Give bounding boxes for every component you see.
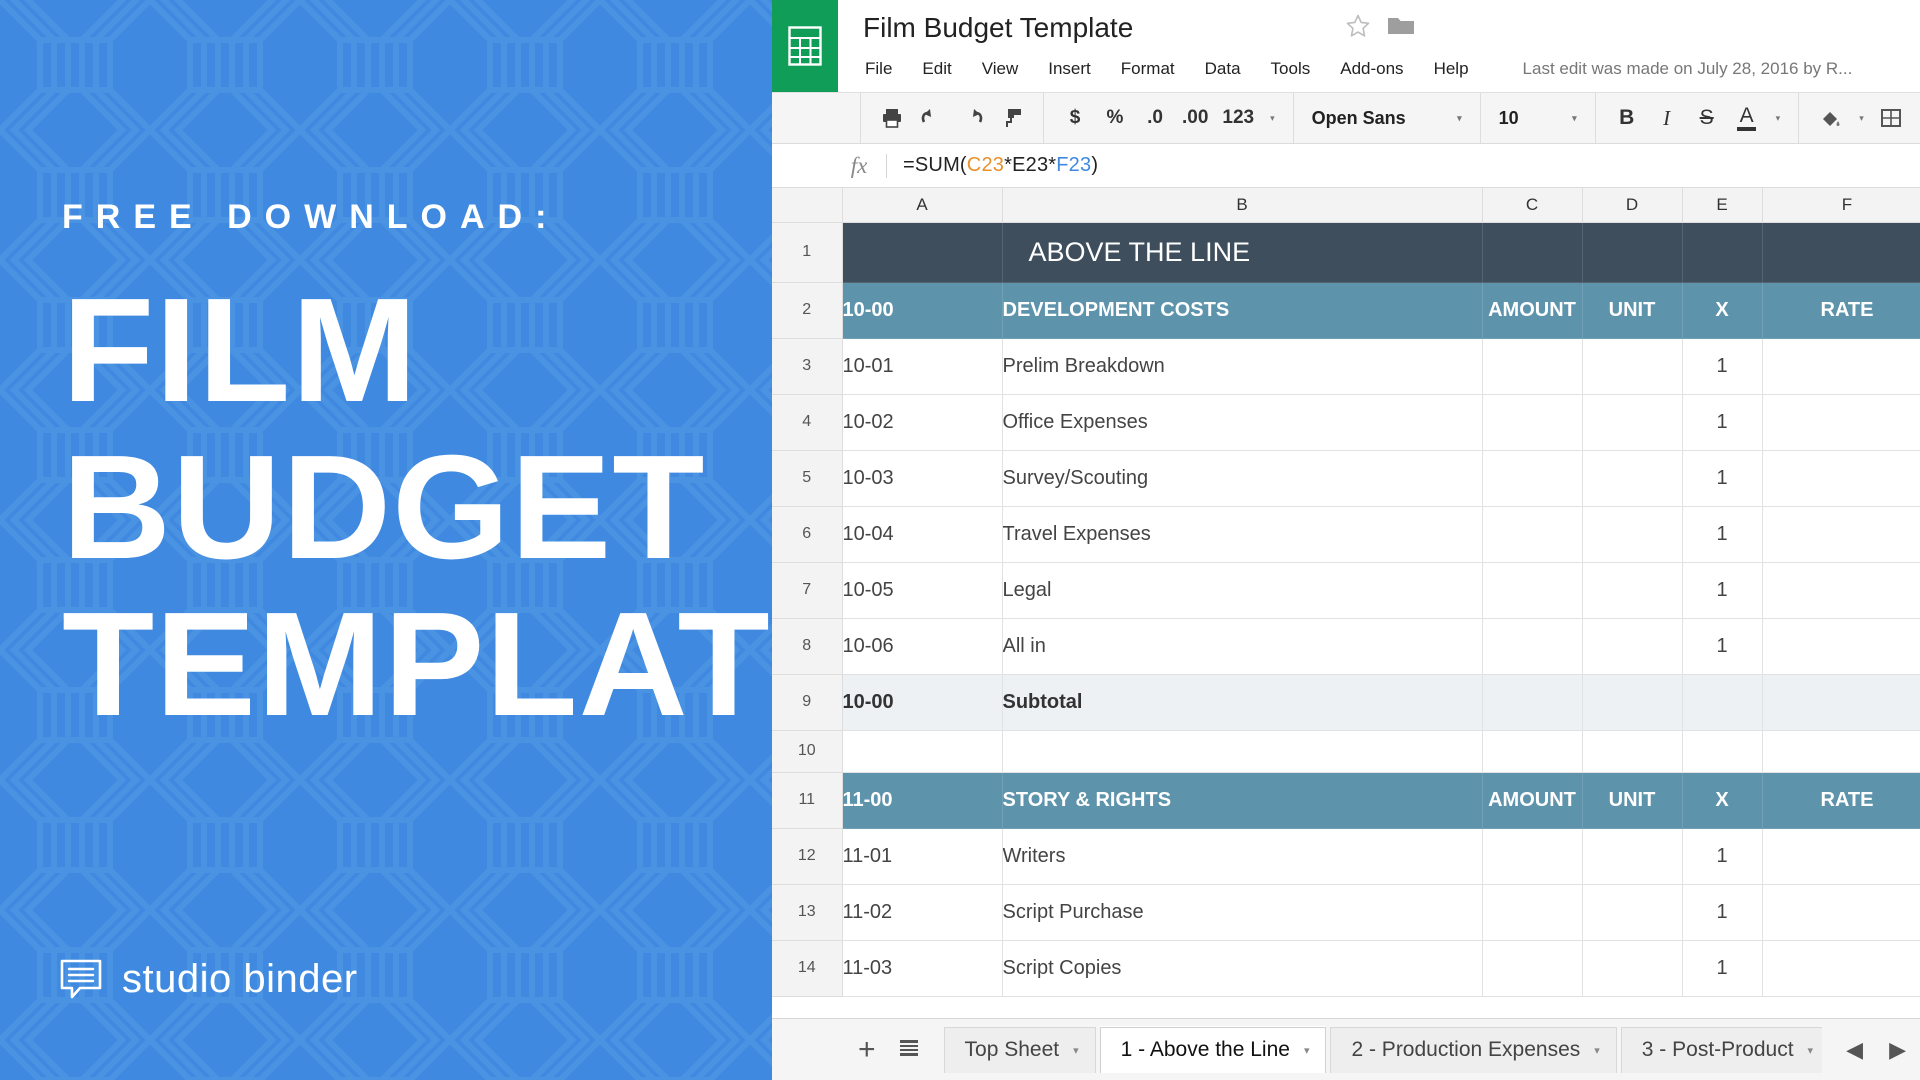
grid-cell[interactable] — [1762, 884, 1920, 940]
grid-cell[interactable]: 10-05 — [842, 562, 1002, 618]
grid-cell[interactable] — [1682, 222, 1762, 282]
formula-bar[interactable]: fx =SUM(C23*E23*F23) — [772, 144, 1920, 188]
studiobinder-wordmark: studio binder — [122, 957, 358, 1002]
grid-cell[interactable] — [1762, 674, 1920, 730]
menu-item-insert[interactable]: Insert — [1046, 56, 1093, 82]
menu-bar: File Edit View Insert Format Data Tools … — [863, 52, 1920, 86]
grid-cell[interactable]: STORY & RIGHTS — [1002, 772, 1482, 828]
toolbar-group-text-style: B I S A ▾ — [1596, 93, 1800, 143]
grid-cell[interactable]: 1 — [1682, 940, 1762, 996]
screenshot-root: FREE DOWNLOAD: FILM BUDGET TEMPLATE stud… — [0, 0, 1920, 1080]
grid-cell[interactable] — [1762, 828, 1920, 884]
borders-icon[interactable] — [1878, 101, 1904, 135]
row-header[interactable]: 3 — [772, 338, 842, 394]
select-all-corner[interactable] — [772, 188, 842, 222]
increase-decimal-button[interactable]: .00 — [1182, 101, 1208, 135]
more-formats-button[interactable]: 123 — [1222, 101, 1254, 135]
row-header[interactable]: 6 — [772, 506, 842, 562]
formula-part-suffix: ) — [1091, 154, 1098, 176]
grid-cell[interactable] — [842, 222, 1002, 282]
grid-cell[interactable] — [1582, 618, 1682, 674]
speech-bubble-icon — [58, 956, 104, 1002]
menu-item-view[interactable]: View — [980, 56, 1021, 82]
font-family-select[interactable]: Open Sans ▾ — [1312, 108, 1462, 129]
grid-cell[interactable] — [1682, 730, 1762, 772]
grid-row: 610-04Travel Expenses1 — [772, 506, 1920, 562]
grid-cell[interactable]: AMOUNT — [1482, 282, 1582, 338]
strikethrough-button[interactable]: S — [1694, 101, 1720, 135]
font-size-select[interactable]: 10 ▾ — [1499, 108, 1577, 129]
document-title[interactable]: Film Budget Template — [863, 12, 1133, 44]
grid-row: 210-00DEVELOPMENT COSTSAMOUNTUNITXRATE — [772, 282, 1920, 338]
row-header[interactable]: 1 — [772, 222, 842, 282]
grid-cell[interactable]: AMOUNT — [1482, 772, 1582, 828]
grid-cell[interactable]: 1 — [1682, 884, 1762, 940]
grid-cell[interactable]: 1 — [1682, 828, 1762, 884]
grid-cell[interactable]: 1 — [1682, 338, 1762, 394]
grid-row: 410-02Office Expenses1 — [772, 394, 1920, 450]
grid-cell[interactable] — [1482, 222, 1582, 282]
grid-cell[interactable]: Office Expenses — [1002, 394, 1482, 450]
grid-cell[interactable] — [1582, 730, 1682, 772]
grid-cell[interactable] — [1482, 730, 1582, 772]
grid-cell[interactable]: 11-00 — [842, 772, 1002, 828]
italic-button[interactable]: I — [1654, 101, 1680, 135]
grid-row: 10 — [772, 730, 1920, 772]
grid-cell[interactable] — [1582, 338, 1682, 394]
row-header[interactable]: 12 — [772, 828, 842, 884]
toolbar-group-font-size: 10 ▾ — [1481, 93, 1596, 143]
sheet-tab-navigation: ◀ ▶ — [1822, 1019, 1906, 1080]
grid-cell[interactable] — [1762, 618, 1920, 674]
chevron-down-icon[interactable]: ▾ — [1808, 1044, 1814, 1057]
fill-color-icon[interactable] — [1817, 101, 1843, 135]
sheet-tabs: Top Sheet▾1 - Above the Line▾2 - Product… — [944, 1027, 1835, 1073]
grid-cell[interactable] — [1762, 562, 1920, 618]
sheet-tab[interactable]: 2 - Production Expenses▾ — [1330, 1027, 1616, 1073]
grid-cell[interactable] — [1762, 394, 1920, 450]
all-sheets-icon[interactable] — [892, 1038, 936, 1062]
formula-input[interactable]: =SUM(C23*E23*F23) — [903, 154, 1098, 177]
sheet-tab-bar: + Top Sheet▾1 - Above the Line▾2 - Produ… — [772, 1018, 1920, 1080]
menu-item-addons[interactable]: Add-ons — [1338, 56, 1405, 82]
text-color-swatch — [1737, 127, 1756, 131]
undo-icon[interactable] — [919, 101, 945, 135]
decrease-decimal-button[interactable]: .0 — [1142, 101, 1168, 135]
grid-cell[interactable]: 11-01 — [842, 828, 1002, 884]
text-color-button[interactable]: A — [1734, 101, 1760, 135]
grid-cell[interactable] — [1482, 674, 1582, 730]
percent-format-button[interactable]: % — [1102, 101, 1128, 135]
grid-cell[interactable] — [1762, 730, 1920, 772]
google-sheets-window: Film Budget Template File Edit — [772, 0, 1920, 1080]
menu-item-data[interactable]: Data — [1203, 56, 1243, 82]
chevron-down-icon[interactable]: ▾ — [1304, 1044, 1310, 1057]
grid-cell[interactable]: UNIT — [1582, 772, 1682, 828]
grid-cell[interactable]: 10-02 — [842, 394, 1002, 450]
sheet-tab-label: 2 - Production Expenses — [1351, 1038, 1580, 1062]
grid-row: 710-05Legal1 — [772, 562, 1920, 618]
grid-cell[interactable] — [1482, 394, 1582, 450]
grid-cell[interactable] — [1582, 450, 1682, 506]
formula-part-prefix: =SUM( — [903, 154, 967, 176]
print-icon[interactable] — [879, 101, 905, 135]
grid-cell[interactable]: X — [1682, 772, 1762, 828]
menu-item-edit[interactable]: Edit — [920, 56, 953, 82]
chevron-down-icon[interactable]: ▾ — [1594, 1044, 1600, 1057]
sheet-tab[interactable]: 1 - Above the Line▾ — [1100, 1027, 1327, 1073]
last-edit-status: Last edit was made on July 28, 2016 by R… — [1523, 59, 1853, 79]
next-sheet-arrow[interactable]: ▶ — [1889, 1037, 1906, 1063]
grid-cell[interactable] — [1482, 884, 1582, 940]
grid-cell[interactable]: Travel Expenses — [1002, 506, 1482, 562]
column-header-b[interactable]: B — [1002, 188, 1482, 222]
grid-cell[interactable] — [1762, 222, 1920, 282]
grid-cell[interactable] — [1482, 506, 1582, 562]
text-color-letter: A — [1740, 105, 1754, 126]
toolbar: $ % .0 .00 123 ▾ Open Sans ▾ 10 ▾ — [772, 92, 1920, 144]
column-header-c[interactable]: C — [1482, 188, 1582, 222]
currency-format-button[interactable]: $ — [1062, 101, 1088, 135]
grid-row: 510-03Survey/Scouting1 — [772, 450, 1920, 506]
grid-row: 1ABOVE THE LINE — [772, 222, 1920, 282]
grid-cell[interactable]: Survey/Scouting — [1002, 450, 1482, 506]
toolbar-group-number-format: $ % .0 .00 123 ▾ — [1044, 93, 1294, 143]
grid-cell[interactable]: 1 — [1682, 618, 1762, 674]
grid-cell[interactable]: 1 — [1682, 394, 1762, 450]
row-header[interactable]: 14 — [772, 940, 842, 996]
grid-body: 1ABOVE THE LINE210-00DEVELOPMENT COSTSAM… — [772, 222, 1920, 996]
grid-cell[interactable]: 10-01 — [842, 338, 1002, 394]
bold-button[interactable]: B — [1614, 101, 1640, 135]
grid-cell[interactable] — [842, 730, 1002, 772]
menu-item-help[interactable]: Help — [1432, 56, 1471, 82]
column-header-e[interactable]: E — [1682, 188, 1762, 222]
fx-icon: fx — [832, 153, 886, 179]
promo-eyebrow: FREE DOWNLOAD: — [62, 200, 772, 234]
grid-cell[interactable] — [1482, 450, 1582, 506]
grid-cell[interactable] — [1582, 394, 1682, 450]
grid-cell[interactable]: 1 — [1682, 506, 1762, 562]
toolbar-group-actions — [860, 93, 1044, 143]
chevron-down-icon[interactable]: ▾ — [1776, 113, 1781, 124]
row-header[interactable]: 7 — [772, 562, 842, 618]
grid-row: 1411-03Script Copies1 — [772, 940, 1920, 996]
add-sheet-button[interactable]: + — [842, 1035, 892, 1065]
grid-cell[interactable]: 10-00 — [842, 674, 1002, 730]
chevron-down-icon[interactable]: ▾ — [1270, 113, 1275, 124]
grid-cell[interactable] — [1482, 940, 1582, 996]
grid-row: 1211-01Writers1 — [772, 828, 1920, 884]
grid-cell[interactable]: 1 — [1682, 562, 1762, 618]
promo-headline-line-2: BUDGET — [62, 435, 772, 580]
grid-cell[interactable]: 11-02 — [842, 884, 1002, 940]
spreadsheet-grid[interactable]: A B C D E F 1ABOVE THE LINE210-00DEVELOP… — [772, 188, 1920, 1018]
grid-table: A B C D E F 1ABOVE THE LINE210-00DEVELOP… — [772, 188, 1920, 997]
grid-cell[interactable]: UNIT — [1582, 282, 1682, 338]
column-header-row: A B C D E F — [772, 188, 1920, 222]
redo-icon[interactable] — [959, 101, 985, 135]
row-header[interactable]: 11 — [772, 772, 842, 828]
grid-cell[interactable]: RATE — [1762, 282, 1920, 338]
column-header-a[interactable]: A — [842, 188, 1002, 222]
grid-row: 1111-00STORY & RIGHTSAMOUNTUNITXRATE — [772, 772, 1920, 828]
grid-cell[interactable]: All in — [1002, 618, 1482, 674]
grid-cell[interactable]: Script Copies — [1002, 940, 1482, 996]
grid-cell[interactable] — [1582, 884, 1682, 940]
menu-item-file[interactable]: File — [863, 56, 894, 82]
menu-item-tools[interactable]: Tools — [1269, 56, 1313, 82]
grid-row: 910-00Subtotal — [772, 674, 1920, 730]
grid-cell[interactable]: 10-00 — [842, 282, 1002, 338]
grid-cell[interactable]: Legal — [1002, 562, 1482, 618]
grid-cell[interactable] — [1582, 940, 1682, 996]
grid-cell[interactable]: 1 — [1682, 450, 1762, 506]
grid-cell[interactable] — [1682, 674, 1762, 730]
grid-cell[interactable]: 11-03 — [842, 940, 1002, 996]
promo-panel: FREE DOWNLOAD: FILM BUDGET TEMPLATE stud… — [0, 0, 772, 1080]
chevron-down-icon[interactable]: ▾ — [1572, 113, 1577, 124]
formula-ref-c23: C23 — [967, 154, 1004, 176]
star-outline-icon[interactable] — [1345, 13, 1371, 44]
grid-cell[interactable]: Writers — [1002, 828, 1482, 884]
row-header[interactable]: 4 — [772, 394, 842, 450]
grid-cell[interactable]: 10-03 — [842, 450, 1002, 506]
grid-cell[interactable] — [1482, 562, 1582, 618]
column-header-f[interactable]: F — [1762, 188, 1920, 222]
grid-row: 310-01Prelim Breakdown1 — [772, 338, 1920, 394]
grid-cell[interactable] — [1582, 828, 1682, 884]
row-header[interactable]: 10 — [772, 730, 842, 772]
row-header[interactable]: 8 — [772, 618, 842, 674]
grid-cell[interactable] — [1762, 506, 1920, 562]
grid-cell[interactable]: Subtotal — [1002, 674, 1482, 730]
grid-cell[interactable]: RATE — [1762, 772, 1920, 828]
studiobinder-logo: studio binder — [58, 956, 358, 1002]
grid-row: 1311-02Script Purchase1 — [772, 884, 1920, 940]
sheet-tab[interactable]: 3 - Post-Product▾ — [1621, 1027, 1830, 1073]
google-sheets-icon[interactable] — [772, 0, 838, 92]
folder-icon[interactable] — [1387, 14, 1415, 43]
grid-cell[interactable] — [1762, 338, 1920, 394]
font-family-value: Open Sans — [1312, 108, 1406, 129]
grid-cell[interactable] — [1582, 506, 1682, 562]
sheet-tab[interactable]: Top Sheet▾ — [944, 1027, 1096, 1073]
grid-cell[interactable] — [1582, 674, 1682, 730]
grid-cell[interactable] — [1762, 450, 1920, 506]
column-header-d[interactable]: D — [1582, 188, 1682, 222]
grid-cell[interactable]: Script Purchase — [1002, 884, 1482, 940]
chevron-down-icon[interactable]: ▾ — [1859, 113, 1864, 124]
prev-sheet-arrow[interactable]: ◀ — [1846, 1037, 1863, 1063]
grid-cell[interactable]: DEVELOPMENT COSTS — [1002, 282, 1482, 338]
grid-cell[interactable] — [1482, 338, 1582, 394]
formula-part-middle: *E23* — [1004, 154, 1056, 176]
sheet-tab-label: 3 - Post-Product — [1642, 1038, 1794, 1062]
sheets-header: Film Budget Template File Edit — [772, 0, 1920, 92]
row-header[interactable]: 2 — [772, 282, 842, 338]
chevron-down-icon[interactable]: ▾ — [1457, 113, 1462, 124]
font-size-value: 10 — [1499, 108, 1519, 129]
row-header[interactable]: 13 — [772, 884, 842, 940]
grid-cell[interactable] — [1582, 222, 1682, 282]
grid-cell[interactable]: 10-06 — [842, 618, 1002, 674]
row-header[interactable]: 5 — [772, 450, 842, 506]
formula-ref-f23: F23 — [1056, 154, 1091, 176]
toolbar-group-font: Open Sans ▾ — [1294, 93, 1481, 143]
formula-bar-divider — [886, 154, 887, 178]
grid-cell[interactable]: 10-04 — [842, 506, 1002, 562]
grid-cell[interactable] — [1002, 730, 1482, 772]
sheet-tab-label: Top Sheet — [965, 1038, 1060, 1062]
paint-format-icon[interactable] — [999, 101, 1025, 135]
promo-headline-line-3: TEMPLATE — [62, 592, 772, 737]
grid-cell[interactable] — [1582, 562, 1682, 618]
promo-headline-line-1: FILM — [62, 278, 772, 423]
grid-cell[interactable] — [1482, 618, 1582, 674]
grid-cell[interactable]: Prelim Breakdown — [1002, 338, 1482, 394]
grid-cell[interactable] — [1762, 940, 1920, 996]
grid-cell[interactable]: ABOVE THE LINE — [1002, 222, 1482, 282]
grid-cell[interactable]: X — [1682, 282, 1762, 338]
menu-item-format[interactable]: Format — [1119, 56, 1177, 82]
promo-headline: FILM BUDGET TEMPLATE — [62, 278, 772, 737]
toolbar-group-cell-style: ▾ ▾ ▾ — [1799, 93, 1920, 143]
grid-cell[interactable] — [1482, 828, 1582, 884]
sheet-tab-label: 1 - Above the Line — [1121, 1038, 1290, 1062]
chevron-down-icon[interactable]: ▾ — [1073, 1044, 1079, 1057]
row-header[interactable]: 9 — [772, 674, 842, 730]
grid-row: 810-06All in1 — [772, 618, 1920, 674]
